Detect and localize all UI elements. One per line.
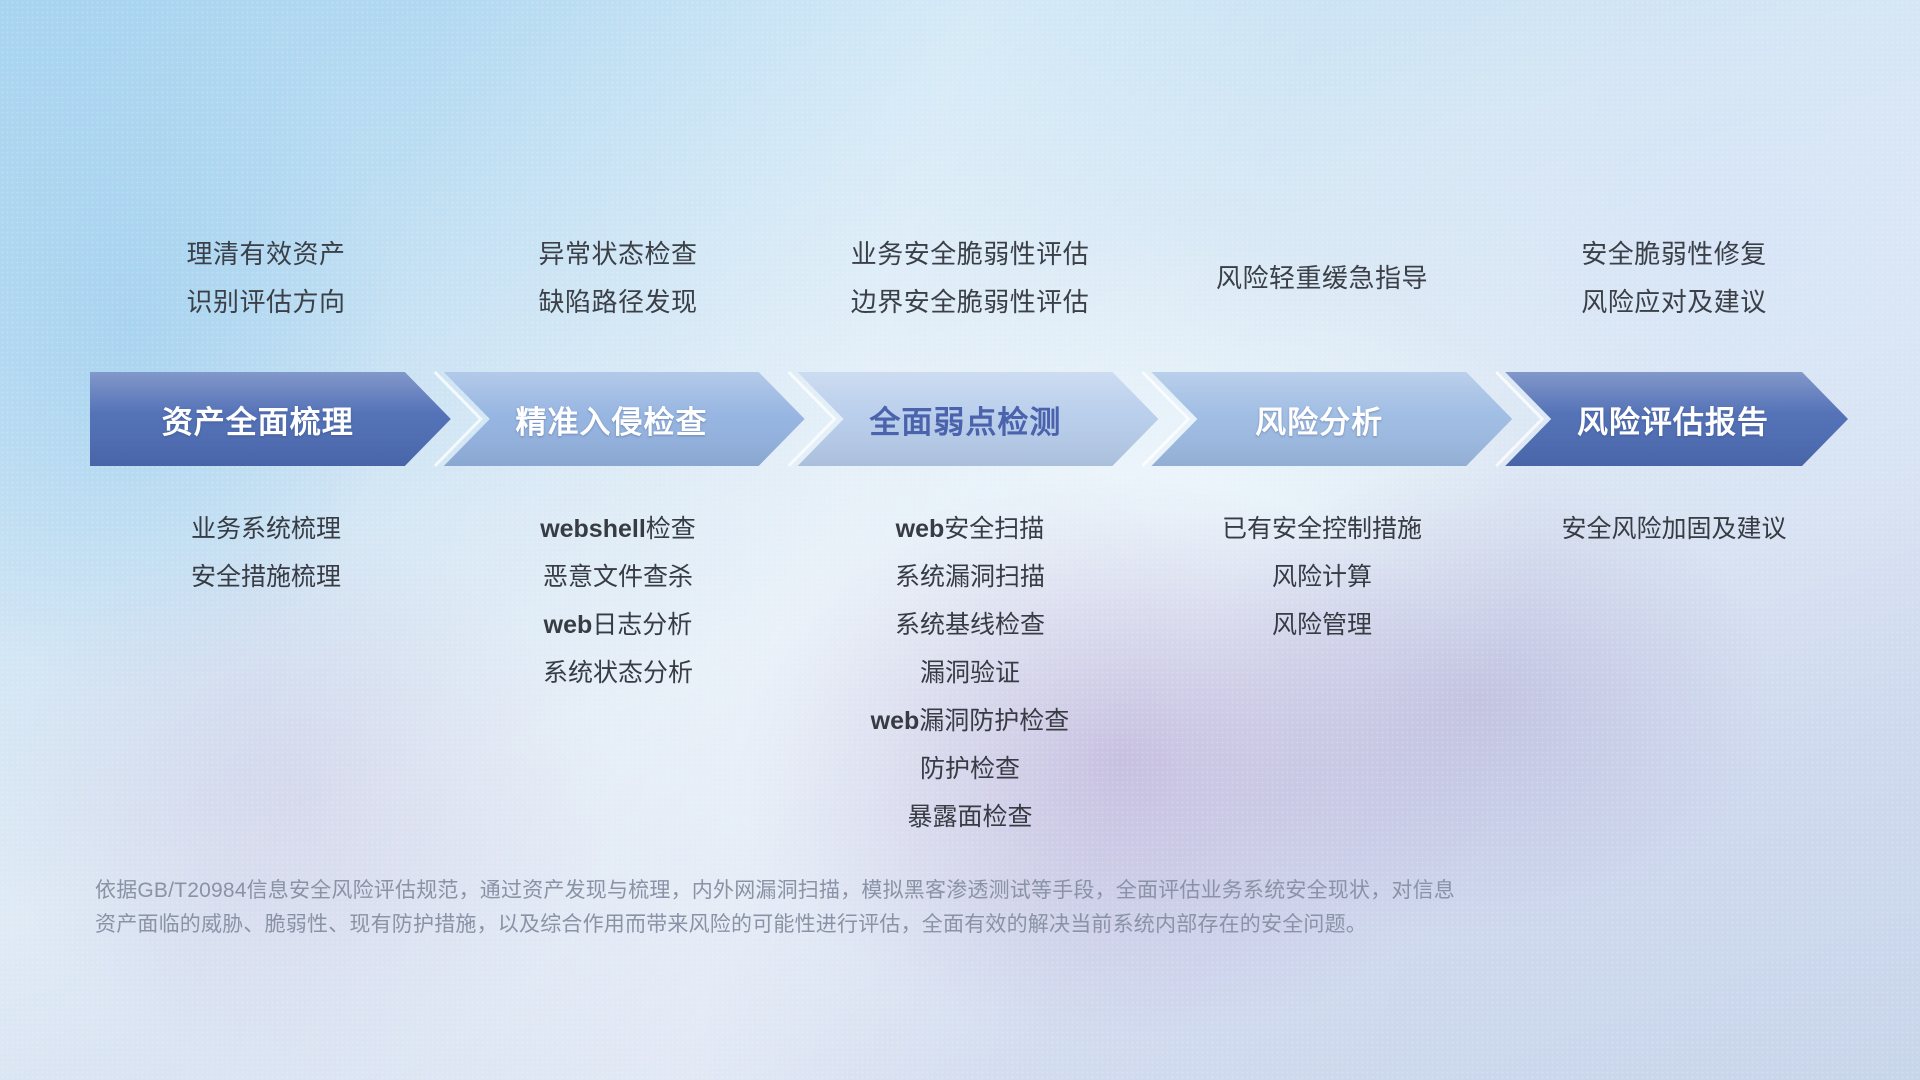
top-caption-line: 边界安全脆弱性评估 bbox=[794, 278, 1146, 326]
top-caption-line: 理清有效资产 bbox=[90, 230, 442, 278]
top-caption-line: 缺陷路径发现 bbox=[442, 278, 794, 326]
stage-items-group: webshell检查恶意文件查杀web日志分析系统状态分析 bbox=[442, 505, 794, 697]
stage-item-cn: 安全扫描 bbox=[944, 515, 1044, 543]
footer-description: 依据GB/T20984信息安全风险评估规范，通过资产发现与梳理，内外网漏洞扫描，… bbox=[95, 874, 1715, 942]
top-caption-line: 风险应对及建议 bbox=[1498, 278, 1850, 326]
stage-item: 安全风险加固及建议 bbox=[1498, 505, 1850, 553]
top-caption-line: 异常状态检查 bbox=[442, 230, 794, 278]
stage-items-group: 已有安全控制措施风险计算风险管理 bbox=[1146, 505, 1498, 649]
stage-item: 安全措施梳理 bbox=[90, 553, 442, 601]
stage-items-group: 业务系统梳理安全措施梳理 bbox=[90, 505, 442, 601]
stage-items-group: 安全风险加固及建议 bbox=[1498, 505, 1850, 553]
stage-item: 防护检查 bbox=[794, 745, 1146, 793]
arrow-shapes bbox=[90, 372, 1848, 466]
stage-arrow-gloss bbox=[444, 372, 805, 466]
stage-item-latin: web bbox=[544, 611, 593, 639]
stage-item: web安全扫描 bbox=[794, 505, 1146, 553]
stage-arrow-gloss bbox=[798, 372, 1159, 466]
footer-line-2: 资产面临的威胁、脆弱性、现有防护措施，以及综合作用而带来风险的可能性进行评估，全… bbox=[95, 908, 1715, 942]
stage-item: webshell检查 bbox=[442, 505, 794, 553]
top-caption-line: 安全脆弱性修复 bbox=[1498, 230, 1850, 278]
stage-item-cn: 检查 bbox=[646, 515, 696, 543]
stage-arrow-gloss bbox=[1151, 372, 1512, 466]
stage-item-latin: web bbox=[896, 515, 945, 543]
stage-item-cn: 漏洞防护检查 bbox=[919, 707, 1069, 735]
stage-item-latin: web bbox=[871, 707, 920, 735]
stage-item: 业务系统梳理 bbox=[90, 505, 442, 553]
footer-line-1: 依据GB/T20984信息安全风险评估规范，通过资产发现与梳理，内外网漏洞扫描，… bbox=[95, 874, 1715, 908]
stage-item: 风险计算 bbox=[1146, 553, 1498, 601]
top-captions-row: 理清有效资产识别评估方向异常状态检查缺陷路径发现业务安全脆弱性评估边界安全脆弱性… bbox=[90, 230, 1850, 326]
stage-item: 恶意文件查杀 bbox=[442, 553, 794, 601]
top-caption-group: 异常状态检查缺陷路径发现 bbox=[442, 230, 794, 326]
stage-items-row: 业务系统梳理安全措施梳理webshell检查恶意文件查杀web日志分析系统状态分… bbox=[90, 505, 1850, 841]
stage-item: 风险管理 bbox=[1146, 601, 1498, 649]
stage-item: web日志分析 bbox=[442, 601, 794, 649]
stage-arrow-gloss bbox=[1505, 372, 1848, 466]
top-caption-group: 风险轻重缓急指导 bbox=[1146, 230, 1498, 302]
top-caption-group: 安全脆弱性修复风险应对及建议 bbox=[1498, 230, 1850, 326]
stage-item: 系统状态分析 bbox=[442, 649, 794, 697]
stage-item: 系统基线检查 bbox=[794, 601, 1146, 649]
top-caption-line: 业务安全脆弱性评估 bbox=[794, 230, 1146, 278]
stage-item-cn: 日志分析 bbox=[592, 611, 692, 639]
stage-item: web漏洞防护检查 bbox=[794, 697, 1146, 745]
stage-item: 已有安全控制措施 bbox=[1146, 505, 1498, 553]
stage-item: 系统漏洞扫描 bbox=[794, 553, 1146, 601]
stage-item: 漏洞验证 bbox=[794, 649, 1146, 697]
top-caption-line: 风险轻重缓急指导 bbox=[1146, 254, 1498, 302]
stage-arrow-gloss bbox=[90, 372, 451, 466]
stage-item-latin: webshell bbox=[540, 515, 646, 543]
stage-item: 暴露面检查 bbox=[794, 793, 1146, 841]
top-caption-group: 业务安全脆弱性评估边界安全脆弱性评估 bbox=[794, 230, 1146, 326]
process-arrow-banner: 资产全面梳理精准入侵检查全面弱点检测风险分析风险评估报告 bbox=[90, 372, 1848, 466]
top-caption-group: 理清有效资产识别评估方向 bbox=[90, 230, 442, 326]
stage-items-group: web安全扫描系统漏洞扫描系统基线检查漏洞验证web漏洞防护检查防护检查暴露面检… bbox=[794, 505, 1146, 841]
top-caption-line: 识别评估方向 bbox=[90, 278, 442, 326]
